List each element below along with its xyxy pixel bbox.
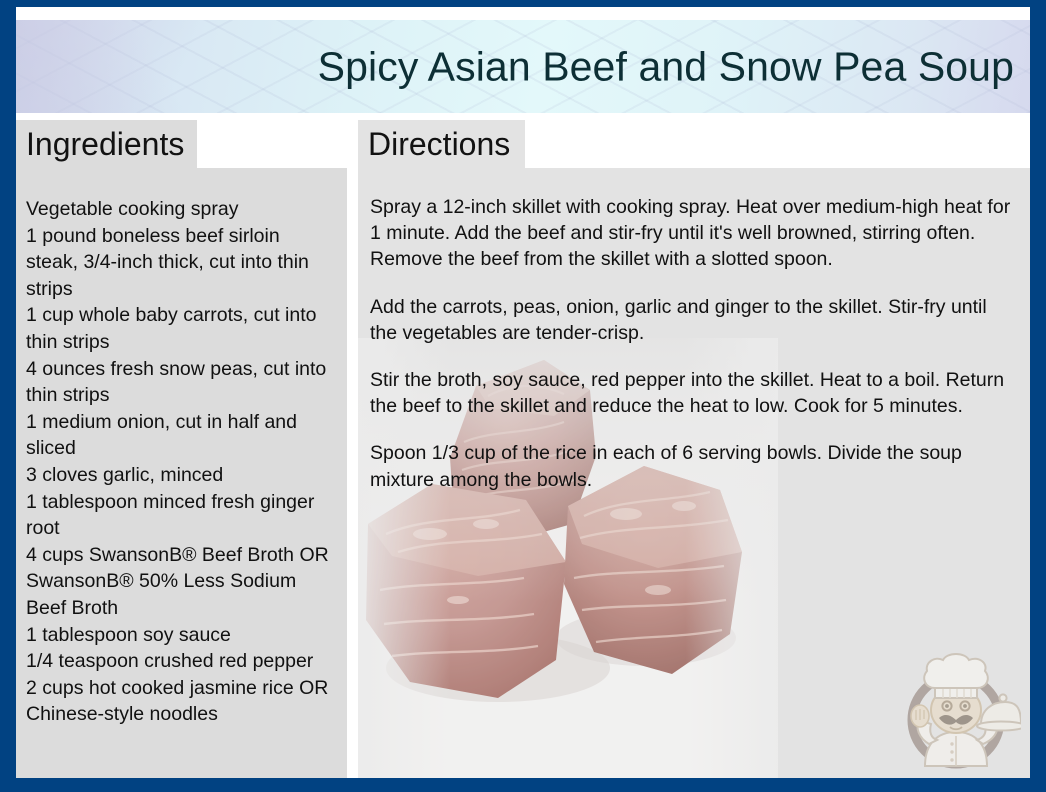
list-item: 2 cups hot cooked jasmine rice OR Chines… bbox=[26, 675, 333, 728]
list-item: 1/4 teaspoon crushed red pepper bbox=[26, 648, 333, 675]
page-title: Spicy Asian Beef and Snow Pea Soup bbox=[318, 46, 1014, 87]
directions-steps: Spray a 12-inch skillet with cooking spr… bbox=[358, 168, 1030, 778]
list-item: 1 tablespoon soy sauce bbox=[26, 622, 333, 649]
ingredients-heading-tab: Ingredients bbox=[16, 120, 197, 168]
list-item: Vegetable cooking spray bbox=[26, 196, 333, 223]
list-item: 4 cups SwansonB® Beef Broth OR SwansonB®… bbox=[26, 542, 333, 622]
slide-content-area: Spicy Asian Beef and Snow Pea Soup Ingre… bbox=[16, 7, 1030, 778]
list-item: 1 pound boneless beef sirloin steak, 3/4… bbox=[26, 223, 333, 303]
title-banner: Spicy Asian Beef and Snow Pea Soup bbox=[16, 20, 1030, 113]
ingredients-list: Vegetable cooking spray 1 pound boneless… bbox=[16, 168, 347, 778]
direction-step: Add the carrots, peas, onion, garlic and… bbox=[370, 294, 1014, 346]
directions-panel: Directions bbox=[358, 120, 1030, 778]
list-item: 1 cup whole baby carrots, cut into thin … bbox=[26, 302, 333, 355]
direction-step: Stir the broth, soy sauce, red pepper in… bbox=[370, 367, 1014, 419]
list-item: 1 medium onion, cut in half and sliced bbox=[26, 409, 333, 462]
ingredients-heading: Ingredients bbox=[26, 128, 184, 160]
ingredients-panel: Ingredients Vegetable cooking spray 1 po… bbox=[16, 120, 347, 778]
list-item: 4 ounces fresh snow peas, cut into thin … bbox=[26, 356, 333, 409]
list-item: 1 tablespoon minced fresh ginger root bbox=[26, 489, 333, 542]
direction-step: Spoon 1/3 cup of the rice in each of 6 s… bbox=[370, 440, 1014, 492]
recipe-slide: Spicy Asian Beef and Snow Pea Soup Ingre… bbox=[0, 0, 1046, 792]
list-item: 3 cloves garlic, minced bbox=[26, 462, 333, 489]
direction-step: Spray a 12-inch skillet with cooking spr… bbox=[370, 194, 1014, 273]
directions-heading: Directions bbox=[368, 128, 510, 160]
directions-heading-tab: Directions bbox=[358, 120, 525, 168]
